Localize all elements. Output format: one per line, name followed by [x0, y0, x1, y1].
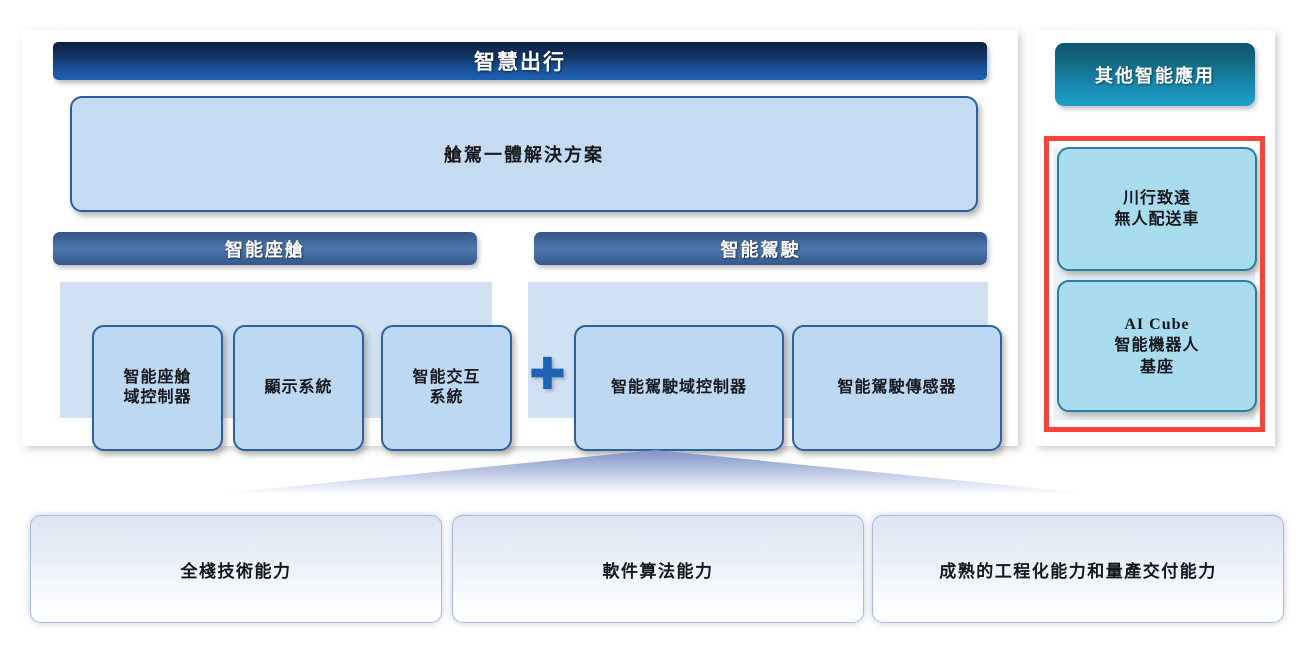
smart-mobility-panel: 智慧出行 艙駕一體解決方案 智能座艙 智能駕駛 智能座艙域控制器 顯示系統 智能… — [22, 30, 1018, 446]
sub-banner-smart-driving: 智能駕駛 — [534, 232, 987, 265]
card-interaction-system[interactable]: 智能交互系統 — [381, 325, 512, 451]
card-driving-domain-controller[interactable]: 智能駕駛域控制器 — [574, 325, 784, 451]
card-display-system[interactable]: 顯示系統 — [233, 325, 364, 451]
solution-box[interactable]: 艙駕一體解決方案 — [70, 96, 978, 212]
side-banner: 其他智能應用 — [1055, 43, 1255, 106]
sub-banner-smart-cockpit: 智能座艙 — [53, 232, 477, 265]
funnel-arrow-icon — [215, 450, 1095, 498]
card-driving-sensor[interactable]: 智能駕駛傳感器 — [792, 325, 1002, 451]
card-cockpit-domain-controller[interactable]: 智能座艙域控制器 — [92, 325, 223, 451]
other-applications-panel: 其他智能應用 川行致遠無人配送車 AI Cube智能機器人基座 — [1035, 30, 1275, 446]
plus-icon: ✚ — [529, 360, 563, 394]
highlight-frame — [1044, 136, 1265, 432]
capability-algorithm[interactable]: 軟件算法能力 — [452, 515, 864, 623]
capability-delivery[interactable]: 成熟的工程化能力和量產交付能力 — [872, 515, 1284, 623]
capability-fullstack[interactable]: 全棧技術能力 — [30, 515, 442, 623]
main-banner: 智慧出行 — [53, 42, 987, 80]
